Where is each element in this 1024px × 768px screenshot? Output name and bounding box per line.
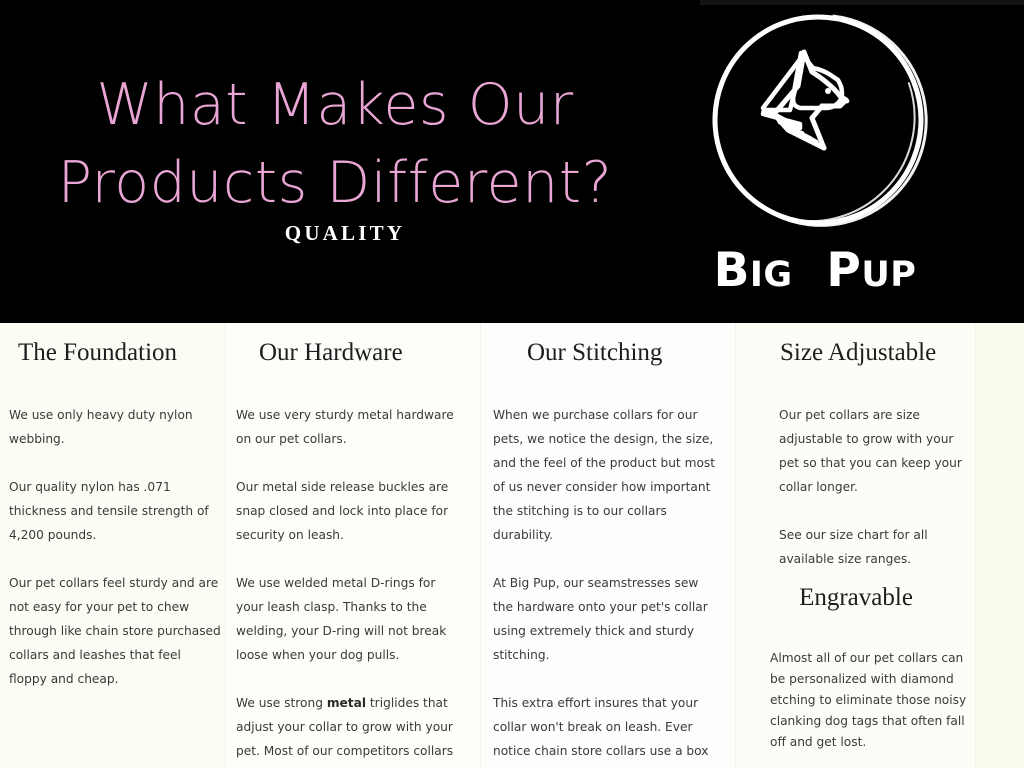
headline-line-2: Products Different? [0, 144, 670, 222]
subsection-title-engravable: Engravable [736, 583, 976, 613]
column-divider-1 [225, 323, 226, 768]
header-banner: What Makes Our Products Different? QUALI… [0, 0, 1024, 323]
column-body-hardware: We use very sturdy metal hardware on our… [236, 403, 464, 768]
column-body-foundation: We use only heavy duty nylon webbing. Ou… [9, 403, 221, 691]
paragraph: We use very sturdy metal hardware on our… [236, 403, 464, 451]
paragraph: At Big Pup, our seamstresses sew the har… [493, 571, 721, 667]
headline-line-1: What Makes Our [0, 66, 670, 144]
column-gutter-right [976, 323, 1024, 768]
paragraph-rich: We use strong metal triglides that adjus… [236, 691, 464, 768]
paragraph: When we purchase collars for our pets, w… [493, 403, 721, 547]
column-body-stitching: When we purchase collars for our pets, w… [493, 403, 721, 768]
infographic-page: What Makes Our Products Different? QUALI… [0, 0, 1024, 768]
headline-block: What Makes Our Products Different? [0, 66, 670, 222]
dog-head-circle-icon [700, 2, 948, 242]
column-title-size-adjustable: Size Adjustable [780, 338, 936, 368]
brand-logo: BIG PUP [680, 2, 1024, 320]
brand-wordmark: BIG PUP [680, 245, 950, 301]
column-divider-2 [480, 323, 481, 768]
paragraph: Our pet collars feel sturdy and are not … [9, 571, 221, 691]
column-divider-4 [975, 323, 976, 768]
column-title-foundation: The Foundation [18, 338, 177, 368]
paragraph: Almost all of our pet collars can be per… [770, 648, 970, 753]
paragraph: Our pet collars are size adjustable to g… [779, 403, 969, 499]
subheadline: QUALITY [0, 221, 690, 246]
column-title-hardware: Our Hardware [259, 338, 403, 368]
column-title-stitching: Our Stitching [527, 338, 662, 368]
paragraph: We use welded metal D-rings for your lea… [236, 571, 464, 667]
brand-word-pup: PUP [810, 243, 917, 298]
paragraph: We use only heavy duty nylon webbing. [9, 403, 221, 451]
paragraph: See our size chart for all available siz… [779, 523, 969, 571]
rich-prefix: We use strong [236, 696, 327, 710]
paragraph: Our quality nylon has .071 thickness and… [9, 475, 221, 547]
feature-columns: The Foundation We use only heavy duty ny… [0, 323, 1024, 768]
page-title: What Makes Our Products Different? [0, 66, 670, 222]
brand-word-big: BIG [714, 243, 793, 298]
paragraph: Our metal side release buckles are snap … [236, 475, 464, 547]
column-body-size-adjustable: Our pet collars are size adjustable to g… [779, 403, 969, 571]
paragraph: This extra effort insures that your coll… [493, 691, 721, 768]
rich-bold: metal [327, 696, 366, 710]
column-body-engravable: Almost all of our pet collars can be per… [770, 648, 970, 753]
column-divider-3 [735, 323, 736, 768]
